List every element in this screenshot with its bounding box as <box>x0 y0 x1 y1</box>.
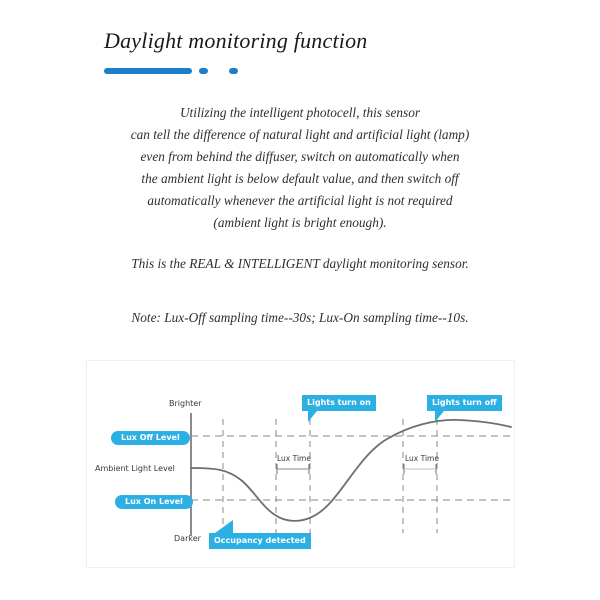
body-paragraph: Utilizing the intelligent photocell, thi… <box>60 102 540 234</box>
axis-label-darker: Darker <box>174 534 201 543</box>
daylight-chart-panel: Brighter Darker Ambient Light Level Lux … <box>86 360 515 568</box>
accent-bar-dot <box>229 68 238 74</box>
body-line: Utilizing the intelligent photocell, thi… <box>60 102 540 124</box>
accent-bar-long <box>104 68 192 74</box>
body-line: (ambient light is bright enough). <box>60 212 540 234</box>
lights-turn-on-callout-label: Lights turn on <box>307 398 371 407</box>
occupancy-detected-callout: Occupancy detected <box>209 533 311 549</box>
occupancy-detected-callout-label: Occupancy detected <box>214 536 306 545</box>
body-line: automatically whenever the artificial li… <box>60 190 540 212</box>
body-line: can tell the difference of natural light… <box>60 124 540 146</box>
page-title: Daylight monitoring function <box>104 28 367 54</box>
lux-time-label-1: Lux Time <box>277 454 311 463</box>
accent-bar-mid <box>199 68 208 74</box>
lights-turn-off-callout: Lights turn off <box>427 395 502 411</box>
title-accent-rule <box>104 68 238 74</box>
axis-label-brighter: Brighter <box>169 399 202 408</box>
body-line: the ambient light is below default value… <box>60 168 540 190</box>
callout-tail-icon <box>215 520 233 533</box>
lux-on-level-pill: Lux On Level <box>115 495 193 509</box>
ambient-light-curve <box>191 420 511 521</box>
lux-time-label-2: Lux Time <box>405 454 439 463</box>
lux-time-bracket-1 <box>277 464 309 474</box>
axis-label-ambient-light-level: Ambient Light Level <box>95 464 175 473</box>
tagline-text: This is the REAL & INTELLIGENT daylight … <box>60 256 540 272</box>
lights-turn-off-callout-label: Lights turn off <box>432 398 497 407</box>
page-root: Daylight monitoring function Utilizing t… <box>0 0 600 600</box>
lux-off-level-pill: Lux Off Level <box>111 431 190 445</box>
body-line: even from behind the diffuser, switch on… <box>60 146 540 168</box>
lights-turn-on-callout: Lights turn on <box>302 395 376 411</box>
note-text: Note: Lux-Off sampling time--30s; Lux-On… <box>60 310 540 326</box>
lux-time-bracket-2 <box>404 464 436 474</box>
callout-tail-icon <box>308 411 317 422</box>
callout-tail-icon <box>435 411 444 422</box>
